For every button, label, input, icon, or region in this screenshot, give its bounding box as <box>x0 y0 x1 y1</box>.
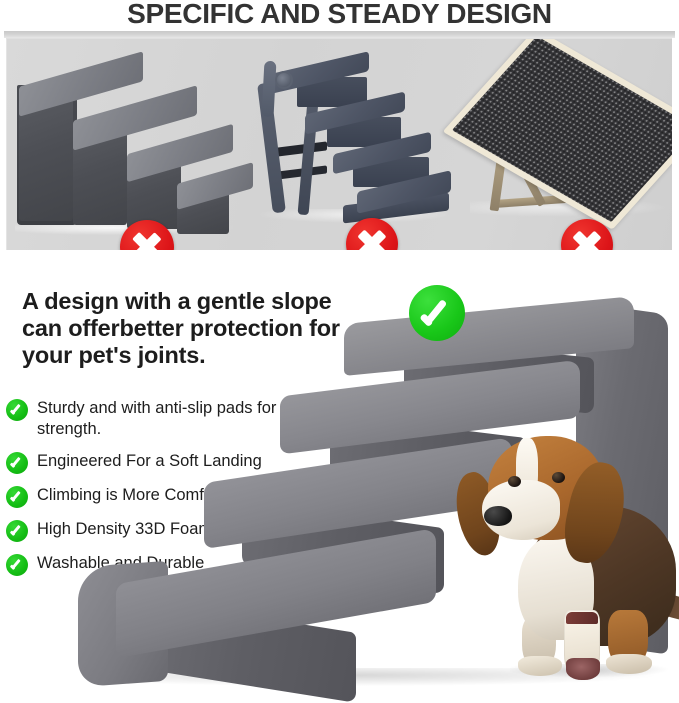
dog-eye-right <box>552 472 565 483</box>
page-title: SPECIFIC AND STEADY DESIGN <box>0 0 679 30</box>
title-divider <box>4 31 675 38</box>
dog-paw-far <box>518 656 562 676</box>
plastic-hinge-knob <box>275 71 293 89</box>
plastic-rail <box>262 61 277 118</box>
dog-paw-right <box>606 654 652 674</box>
product-foam-staircase-image <box>9 47 229 233</box>
product-wooden-ramp-image <box>462 51 672 231</box>
comparison-panel: Not Easy To Climb Slippery Easy To Fall <box>6 38 672 250</box>
dog-photo <box>440 420 679 678</box>
product-plastic-folding-stairs-image <box>257 49 447 231</box>
green-check-icon <box>409 285 465 341</box>
dog-bandage-stain-bottom <box>566 658 600 680</box>
main-feature-section: A design with a gentle slope can offerbe… <box>0 252 679 679</box>
dog-eye-left <box>508 476 521 487</box>
dog-bandage-stain-top <box>566 612 598 624</box>
dog-nose <box>484 506 512 526</box>
